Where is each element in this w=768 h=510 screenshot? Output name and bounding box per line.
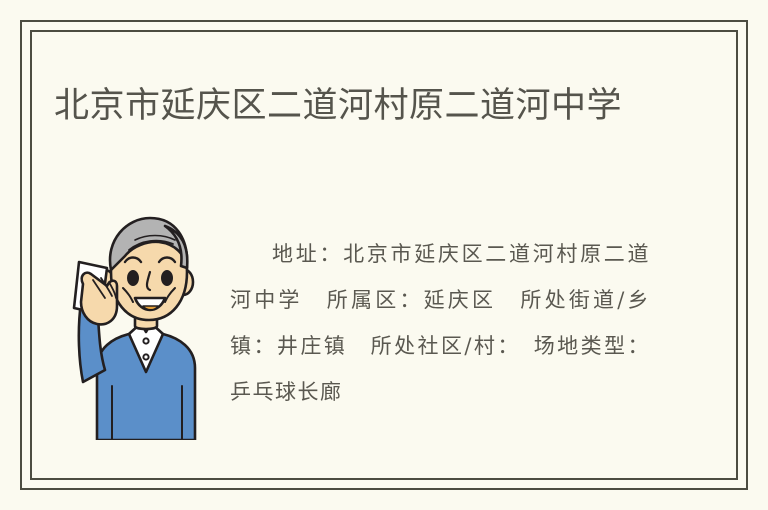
body-row: 地址：北京市延庆区二道河村原二道河中学 所属区：延庆区 所处街道/乡镇：井庄镇 … bbox=[30, 190, 738, 480]
card-content: 北京市延庆区二道河村原二道河中学 bbox=[30, 30, 738, 480]
elderly-man-on-phone-illustration bbox=[55, 210, 220, 440]
page-root: 北京市延庆区二道河村原二道河中学 bbox=[0, 0, 768, 510]
page-title: 北京市延庆区二道河村原二道河中学 bbox=[54, 81, 654, 130]
elderly-man-on-phone-icon bbox=[55, 210, 220, 440]
venue-details-paragraph: 地址：北京市延庆区二道河村原二道河中学 所属区：延庆区 所处街道/乡镇：井庄镇 … bbox=[230, 231, 650, 415]
